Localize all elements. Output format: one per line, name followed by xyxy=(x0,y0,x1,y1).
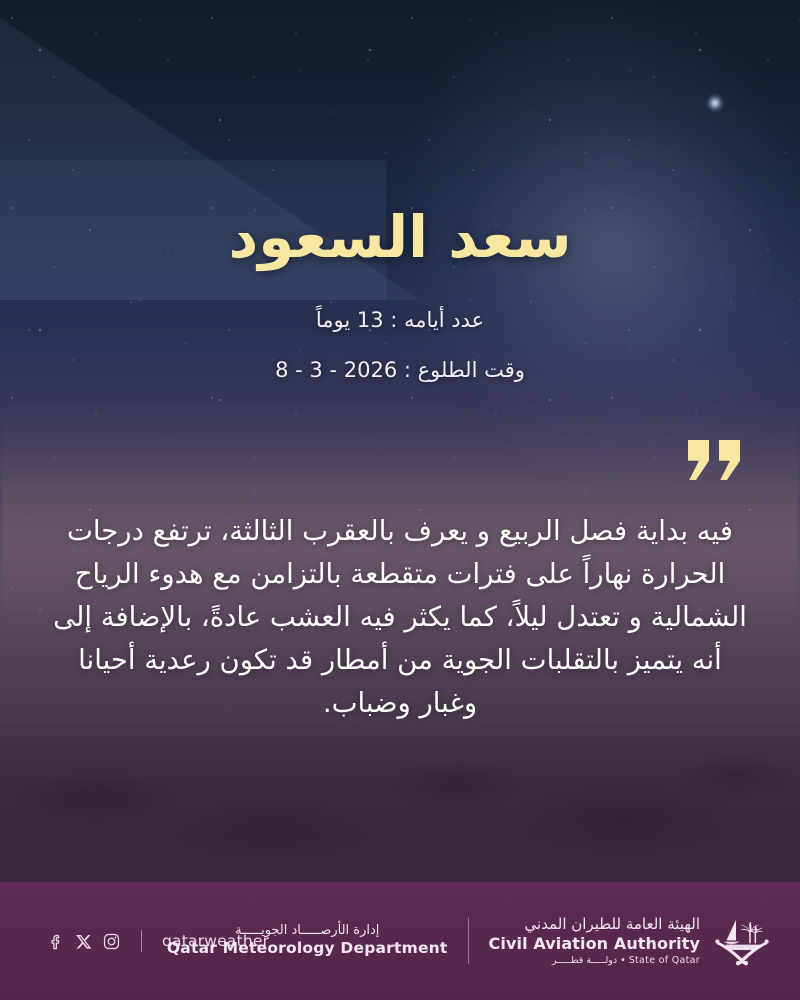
poster-content: سعد السعود عدد أيامه : 13 يوماً وقت الطل… xyxy=(0,0,800,1000)
facebook-icon[interactable] xyxy=(46,932,65,951)
quote-mark-glyph-right xyxy=(719,440,740,480)
qatar-meteorology-department-logo: إدارة الأرصـــــاد الجويـــــة Qatar Met… xyxy=(167,923,468,959)
social-divider xyxy=(141,930,142,952)
poster-canvas: سعد السعود عدد أيامه : 13 يوماً وقت الطل… xyxy=(0,0,800,1000)
caa-arabic-name: الهيئة العامة للطيران المدني xyxy=(489,915,700,934)
caa-english-name: Civil Aviation Authority xyxy=(489,934,700,954)
season-days-label: عدد أيامه : 13 يوماً xyxy=(0,308,800,332)
qatar-state-emblem-icon xyxy=(712,912,772,970)
caa-state-label: دولـــــة قطـــــر • State of Qatar xyxy=(489,954,700,967)
civil-aviation-authority-logo: الهيئة العامة للطيران المدني Civil Aviat… xyxy=(469,912,772,970)
x-twitter-icon[interactable] xyxy=(74,932,93,951)
quote-mark-glyph-left xyxy=(688,440,709,480)
season-rise-date-label: وقت الطلوع : 2026 - 3 - 8 xyxy=(0,358,800,382)
quote-mark-icon xyxy=(686,440,740,482)
brand-logos-group: إدارة الأرصـــــاد الجويـــــة Qatar Met… xyxy=(167,912,772,970)
season-description-text: فيه بداية فصل الربيع و يعرف بالعقرب الثا… xyxy=(46,510,754,724)
footer-bar: qatarweather إدارة الأرصـــــاد الجويـــ… xyxy=(0,882,800,1000)
page-title: سعد السعود xyxy=(0,205,800,270)
met-department-arabic-name: إدارة الأرصـــــاد الجويـــــة xyxy=(167,923,448,939)
met-department-english-name: Qatar Meteorology Department xyxy=(167,939,448,958)
instagram-icon[interactable] xyxy=(102,932,121,951)
